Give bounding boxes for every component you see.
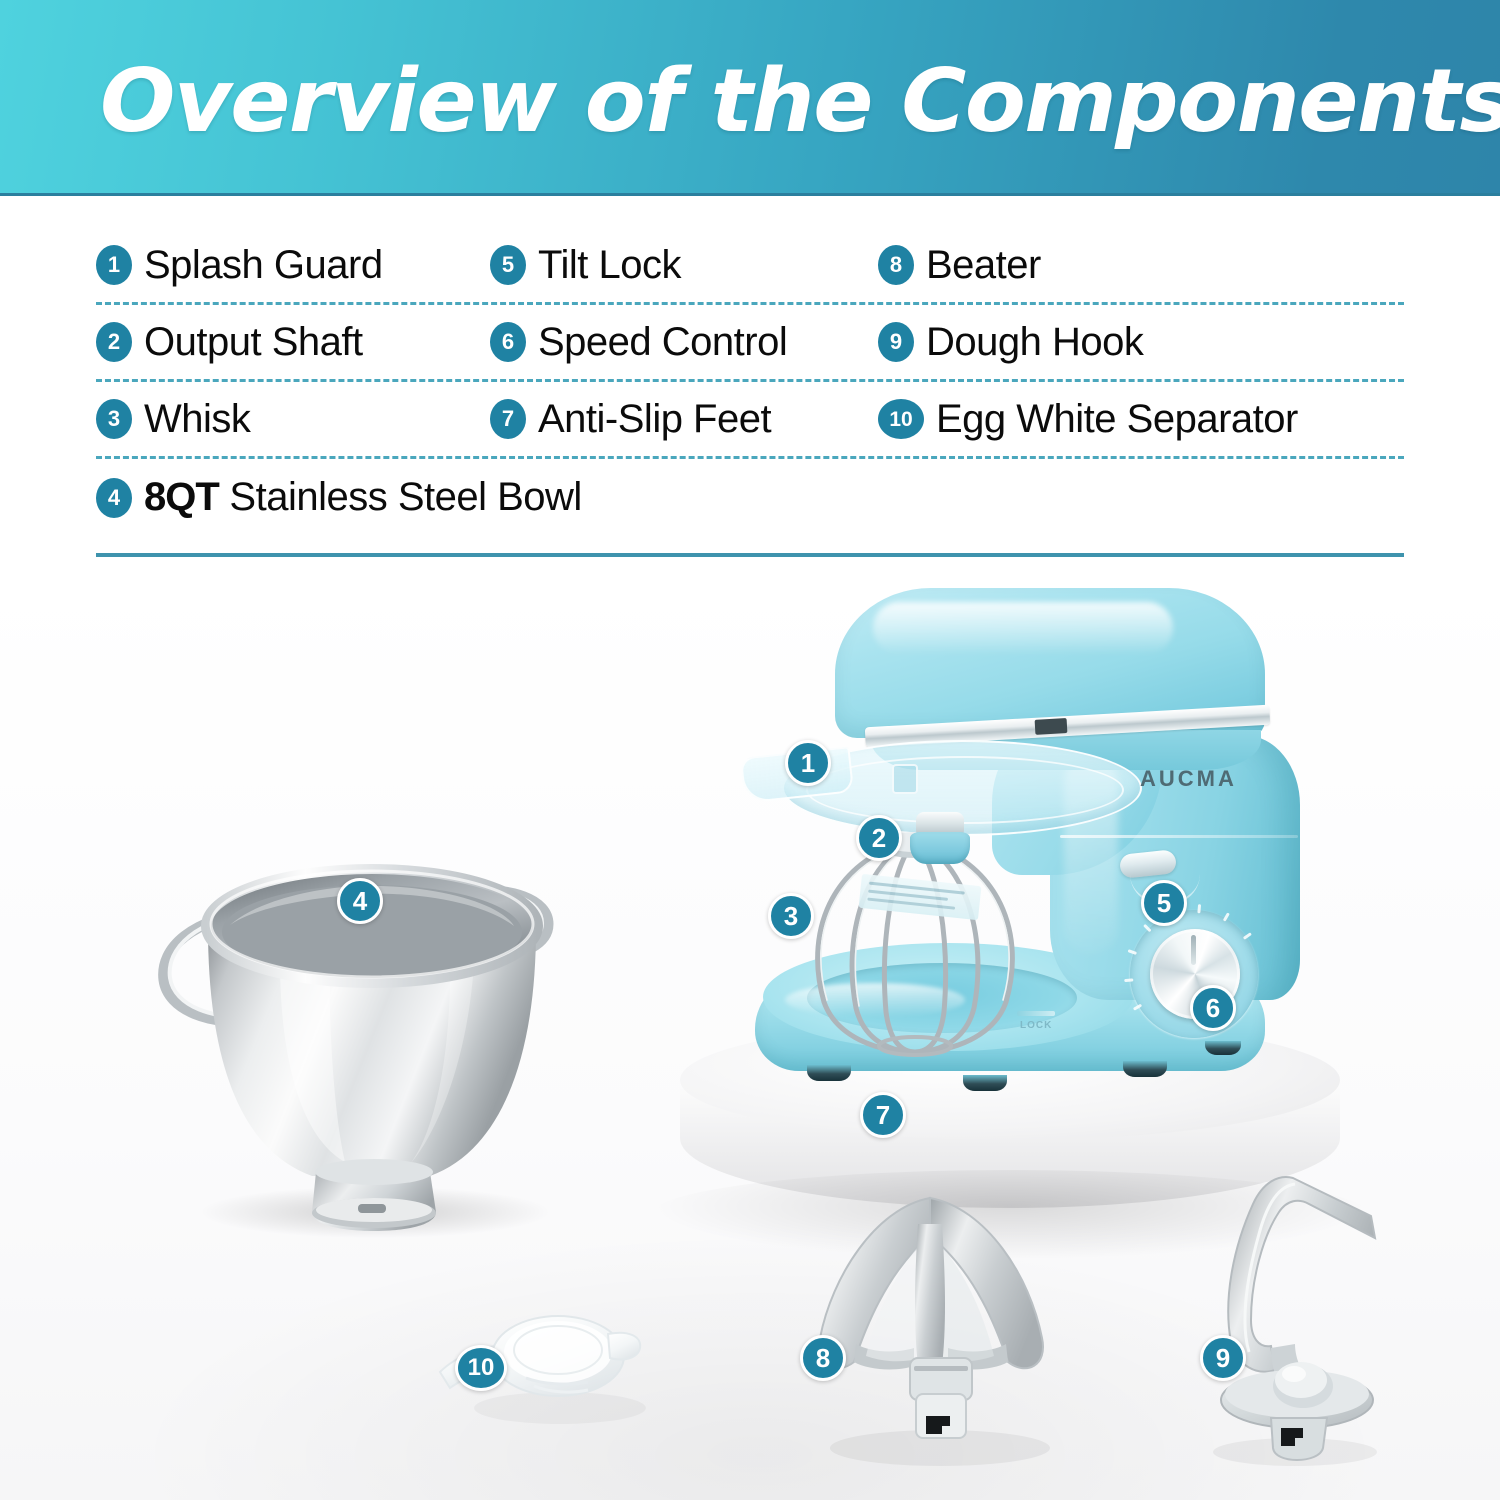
whisk-part xyxy=(780,830,1050,1060)
legend-label-5: Tilt Lock xyxy=(538,243,681,288)
callout-pin-9: 9 xyxy=(1200,1335,1246,1381)
legend-item-stainless-steel-bowl: 4 8QT Stainless Steel Bowl xyxy=(96,459,796,536)
callout-pin-7: 7 xyxy=(860,1092,906,1138)
callout-pin-2: 2 xyxy=(856,815,902,861)
callout-pin-1: 1 xyxy=(785,740,831,786)
legend-label-9: Dough Hook xyxy=(926,320,1143,365)
legend-label-6: Speed Control xyxy=(538,320,787,365)
legend-label-7: Anti-Slip Feet xyxy=(538,397,771,442)
callout-pin-8: 8 xyxy=(800,1335,846,1381)
legend-badge-5: 5 xyxy=(490,245,526,285)
header-banner: Overview of the Components xyxy=(0,0,1500,196)
legend-label-4-capacity: 8QT xyxy=(144,475,219,519)
legend-label-10: Egg White Separator xyxy=(936,397,1298,442)
legend-label-3: Whisk xyxy=(144,397,250,442)
legend-badge-6: 6 xyxy=(490,322,526,362)
legend-label-2: Output Shaft xyxy=(144,320,363,365)
page-title: Overview of the Components xyxy=(100,50,1500,152)
output-shaft-part xyxy=(910,812,970,864)
legend-row: 2 Output Shaft 6 Speed Control 9 Dough H… xyxy=(96,305,1404,382)
beater-image xyxy=(790,1180,1070,1480)
legend-row: 4 8QT Stainless Steel Bowl xyxy=(96,459,1404,536)
dough-hook-image xyxy=(1175,1160,1405,1480)
legend-label-8: Beater xyxy=(926,243,1041,288)
legend-item-speed-control: 6 Speed Control xyxy=(490,305,878,379)
legend-badge-9: 9 xyxy=(878,322,914,362)
head-gloss xyxy=(873,602,1173,654)
legend-badge-3: 3 xyxy=(96,399,132,439)
legend-row: 3 Whisk 7 Anti-Slip Feet 10 Egg White Se… xyxy=(96,382,1404,459)
legend-item-anti-slip-feet: 7 Anti-Slip Feet xyxy=(490,382,878,456)
legend-item-output-shaft: 2 Output Shaft xyxy=(96,305,490,379)
legend-item-beater: 8 Beater xyxy=(878,228,1398,302)
legend-bottom-rule xyxy=(96,553,1404,557)
product-photo-stage: 4 LOCK xyxy=(0,575,1500,1500)
components-legend: 1 Splash Guard 5 Tilt Lock 8 Beater 2 Ou… xyxy=(96,228,1404,536)
legend-badge-2: 2 xyxy=(96,322,132,362)
legend-item-dough-hook: 9 Dough Hook xyxy=(878,305,1398,379)
callout-pin-3: 3 xyxy=(768,893,814,939)
stand-mixer-image: LOCK AUCMA xyxy=(660,580,1360,1180)
legend-row: 1 Splash Guard 5 Tilt Lock 8 Beater xyxy=(96,228,1404,305)
tilt-lock-lever[interactable] xyxy=(1120,848,1190,882)
brand-logo: AUCMA xyxy=(1140,766,1237,792)
legend-item-whisk: 3 Whisk xyxy=(96,382,490,456)
callout-pin-10: 10 xyxy=(455,1345,507,1391)
callout-pin-4: 4 xyxy=(337,878,383,924)
legend-item-tilt-lock: 5 Tilt Lock xyxy=(490,228,878,302)
legend-badge-10: 10 xyxy=(878,399,924,439)
anti-slip-foot xyxy=(1123,1061,1167,1077)
shaft-hub xyxy=(910,832,970,864)
legend-badge-1: 1 xyxy=(96,245,132,285)
legend-label-4: 8QT Stainless Steel Bowl xyxy=(144,475,582,520)
splash-guard-tab xyxy=(892,764,918,794)
legend-item-egg-white-separator: 10 Egg White Separator xyxy=(878,382,1398,456)
legend-badge-4: 4 xyxy=(96,478,132,518)
legend-label-4-text: Stainless Steel Bowl xyxy=(219,475,582,519)
callout-pin-6: 6 xyxy=(1190,985,1236,1031)
legend-item-splash-guard: 1 Splash Guard xyxy=(96,228,490,302)
anti-slip-foot xyxy=(963,1075,1007,1091)
callout-pin-5: 5 xyxy=(1141,880,1187,926)
legend-badge-8: 8 xyxy=(878,245,914,285)
anti-slip-foot xyxy=(807,1065,851,1081)
speed-control-dial[interactable] xyxy=(1130,910,1270,1050)
legend-badge-7: 7 xyxy=(490,399,526,439)
legend-label-1: Splash Guard xyxy=(144,243,383,288)
